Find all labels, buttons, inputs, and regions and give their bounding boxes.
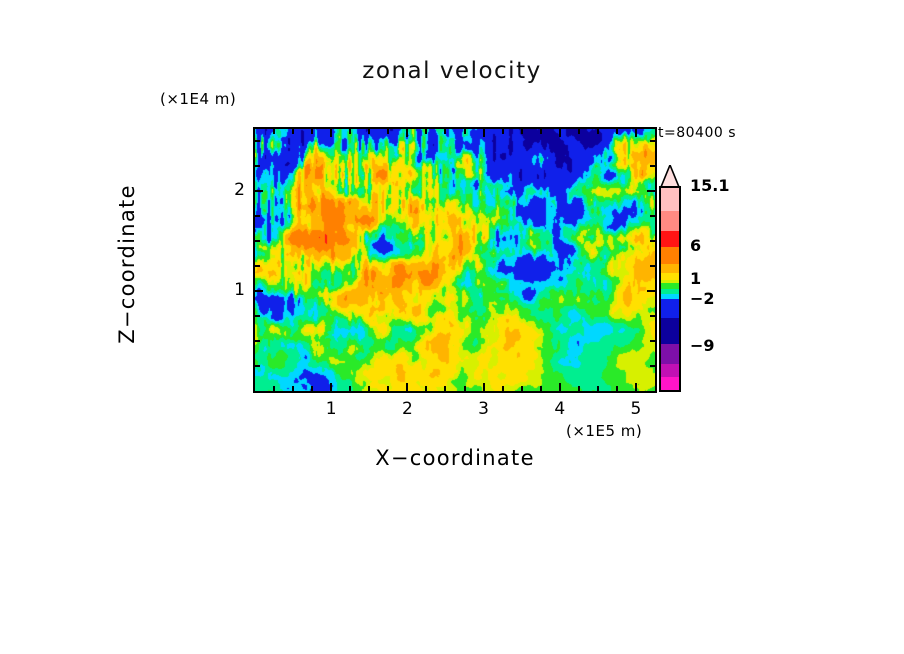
time-annotation: t=80400 s [658, 125, 736, 141]
x-tick-label: 4 [545, 399, 575, 419]
colorbar-band [661, 377, 679, 390]
colorbar [659, 186, 681, 392]
colorbar-band [661, 188, 679, 211]
colorbar-band [661, 247, 679, 264]
colorbar-tick-label: 1 [690, 269, 701, 288]
colorbar-tick-label: 6 [690, 236, 701, 255]
contour-plot-area [253, 127, 657, 393]
x-axis-title: X−coordinate [253, 446, 657, 470]
velocity-field-heatmap [255, 129, 655, 391]
y-axis-title: Z−coordinate [115, 62, 139, 466]
y-unit-label: (×1E4 m) [160, 90, 236, 108]
colorbar-arrow-max [659, 165, 681, 187]
colorbar-band [661, 344, 679, 363]
colorbar-tick-label: −9 [690, 336, 715, 355]
colorbar-tick-label: 15.1 [690, 176, 729, 195]
y-tick-label: 2 [215, 180, 245, 200]
x-tick-label: 1 [316, 399, 346, 419]
x-unit-label: (×1E5 m) [566, 422, 642, 440]
y-tick-label: 1 [215, 280, 245, 300]
colorbar-band [661, 264, 679, 273]
colorbar-tick-label: −2 [690, 289, 715, 308]
colorbar-band [661, 299, 679, 318]
x-tick-label: 3 [469, 399, 499, 419]
colorbar-band [661, 211, 679, 230]
colorbar-band [661, 231, 679, 247]
colorbar-band [661, 364, 679, 377]
x-tick-label: 5 [621, 399, 651, 419]
x-tick-label: 2 [392, 399, 422, 419]
colorbar-band [661, 318, 679, 344]
